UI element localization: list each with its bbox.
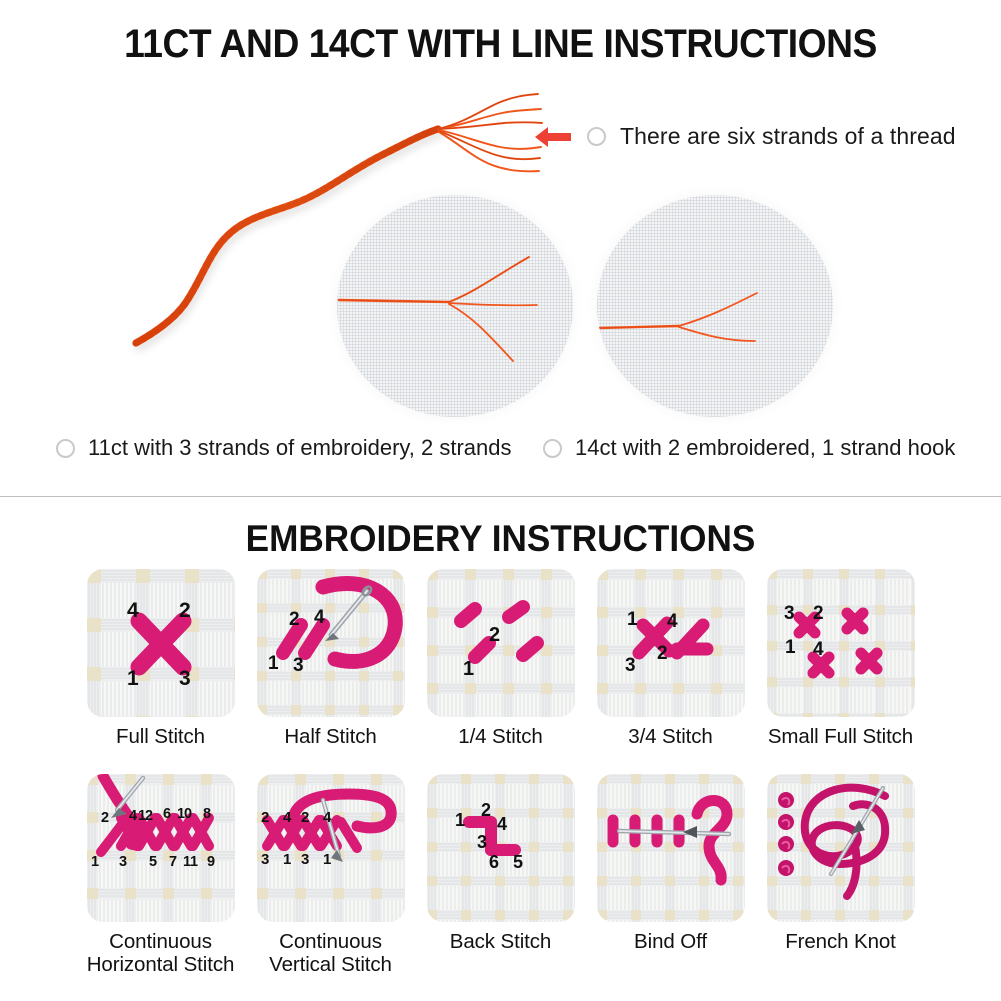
caption-11ct-text: 11ct with 3 strands of embroidery, 2 str… [88, 435, 512, 461]
fabric-swatch-11ct [337, 195, 573, 417]
svg-text:3: 3 [293, 655, 304, 676]
page-title: 11CT AND 14CT WITH LINE INSTRUCTIONS [35, 22, 966, 67]
caption-14ct: 14ct with 2 embroidered, 1 strand hook [543, 435, 955, 461]
svg-text:4: 4 [127, 599, 139, 622]
strands-11ct-illustration [337, 195, 573, 417]
stitch-label: Small Full Stitch [768, 726, 913, 749]
stitch-label: Back Stitch [450, 931, 551, 954]
svg-text:3: 3 [784, 603, 795, 624]
svg-text:4: 4 [667, 611, 678, 632]
svg-text:5: 5 [149, 854, 157, 870]
stitch-diagram-three-quarter-stitch: 1 4 3 2 [597, 569, 745, 717]
svg-text:1: 1 [627, 609, 638, 630]
svg-text:1: 1 [463, 658, 474, 680]
svg-text:5: 5 [513, 852, 523, 872]
section-title: EMBROIDERY INSTRUCTIONS [25, 518, 976, 560]
stitch-grid: 4 2 1 3 Full Stitch [0, 569, 1001, 977]
page-root: 11CT AND 14CT WITH LINE INSTRUCTIONS [0, 0, 1001, 1001]
svg-text:2: 2 [489, 624, 500, 646]
stitch-label: Continuous Vertical Stitch [246, 931, 416, 977]
six-strands-callout: There are six strands of a thread [533, 123, 956, 150]
svg-text:3: 3 [625, 655, 636, 676]
svg-text:1: 1 [268, 653, 279, 674]
stitch-label: Continuous Horizontal Stitch [76, 931, 246, 977]
svg-text:3: 3 [301, 851, 309, 868]
caption-14ct-text: 14ct with 2 embroidered, 1 strand hook [575, 435, 955, 461]
svg-text:1: 1 [127, 667, 139, 690]
svg-text:3: 3 [179, 667, 191, 690]
stitch-cell-continuous-horizontal-stitch[interactable]: 2 412 6 10 8 1 3 5 7 11 [76, 774, 246, 977]
stitch-diagram-continuous-horizontal-stitch: 2 412 6 10 8 1 3 5 7 11 [87, 774, 235, 922]
svg-text:1: 1 [283, 851, 291, 868]
svg-text:7: 7 [169, 854, 177, 870]
svg-text:2: 2 [301, 809, 309, 826]
stitch-cell-half-stitch[interactable]: 2 4 1 3 Half Stitch [246, 569, 416, 749]
stitch-label: Half Stitch [284, 726, 376, 749]
stitch-cell-full-stitch[interactable]: 4 2 1 3 Full Stitch [76, 569, 246, 749]
embroidery-instructions-section: EMBROIDERY INSTRUCTIONS [0, 497, 1001, 1001]
stitch-diagram-bind-off [597, 774, 745, 922]
stitch-cell-back-stitch[interactable]: 1 2 4 3 6 5 Back Stitch [416, 774, 586, 977]
stitch-label: Bind Off [634, 931, 707, 954]
stitch-diagram-quarter-stitch: 2 1 [427, 569, 575, 717]
stitch-diagram-back-stitch: 1 2 4 3 6 5 [427, 774, 575, 922]
svg-text:1: 1 [323, 851, 331, 868]
stitch-cell-quarter-stitch[interactable]: 2 1 1/4 Stitch [416, 569, 586, 749]
stitch-diagram-french-knot [767, 774, 915, 922]
stitch-diagram-half-stitch: 2 4 1 3 [257, 569, 405, 717]
svg-text:9: 9 [207, 854, 215, 870]
thread-instructions-section: 11CT AND 14CT WITH LINE INSTRUCTIONS [0, 0, 1001, 497]
stitch-cell-three-quarter-stitch[interactable]: 1 4 3 2 3/4 Stitch [586, 569, 756, 749]
stitch-diagram-continuous-vertical-stitch: 2 4 2 4 3 1 3 1 [257, 774, 405, 922]
svg-text:2: 2 [657, 643, 668, 664]
svg-text:3: 3 [477, 832, 487, 852]
svg-text:4: 4 [813, 639, 824, 660]
svg-text:1: 1 [785, 637, 796, 658]
stitch-cell-french-knot[interactable]: French Knot [756, 774, 926, 977]
ring-bullet-icon [56, 439, 75, 458]
svg-text:4: 4 [283, 809, 292, 826]
stitch-label: Full Stitch [116, 726, 205, 749]
stitch-label: 3/4 Stitch [628, 726, 712, 749]
svg-text:2: 2 [101, 810, 109, 826]
svg-text:8: 8 [203, 806, 211, 822]
svg-text:4: 4 [497, 814, 507, 834]
svg-text:2: 2 [179, 599, 191, 622]
svg-text:2: 2 [813, 603, 824, 624]
svg-text:6: 6 [163, 806, 171, 822]
caption-11ct: 11ct with 3 strands of embroidery, 2 str… [56, 435, 512, 461]
arrow-left-icon [533, 124, 573, 150]
stitch-cell-bind-off[interactable]: Bind Off [586, 774, 756, 977]
ring-bullet-icon [543, 439, 562, 458]
svg-text:1: 1 [91, 854, 99, 870]
svg-text:2: 2 [261, 809, 269, 826]
svg-text:2: 2 [289, 609, 300, 630]
svg-text:2: 2 [145, 808, 153, 824]
svg-text:4: 4 [314, 607, 325, 628]
stitch-cell-continuous-vertical-stitch[interactable]: 2 4 2 4 3 1 3 1 [246, 774, 416, 977]
stitch-cell-small-full-stitch[interactable]: 3 2 1 4 Small Full Stitch [756, 569, 926, 749]
stitch-label: 1/4 Stitch [458, 726, 542, 749]
strands-14ct-illustration [597, 195, 833, 417]
svg-text:3: 3 [119, 854, 127, 870]
stitch-row: 4 2 1 3 Full Stitch [0, 569, 1001, 749]
svg-text:0: 0 [184, 806, 192, 822]
svg-text:1: 1 [190, 854, 198, 870]
six-strands-text: There are six strands of a thread [620, 123, 956, 150]
svg-text:2: 2 [481, 800, 491, 820]
stitch-diagram-full-stitch: 4 2 1 3 [87, 569, 235, 717]
stitch-label: French Knot [785, 931, 896, 954]
svg-text:4: 4 [129, 808, 137, 824]
svg-text:6: 6 [489, 852, 499, 872]
stitch-row: 2 412 6 10 8 1 3 5 7 11 [0, 749, 1001, 977]
ring-bullet-icon [587, 127, 606, 146]
fabric-swatch-14ct [597, 195, 833, 417]
svg-text:4: 4 [323, 809, 332, 826]
svg-text:3: 3 [261, 851, 269, 868]
svg-text:1: 1 [455, 810, 465, 830]
stitch-diagram-small-full-stitch: 3 2 1 4 [767, 569, 915, 717]
